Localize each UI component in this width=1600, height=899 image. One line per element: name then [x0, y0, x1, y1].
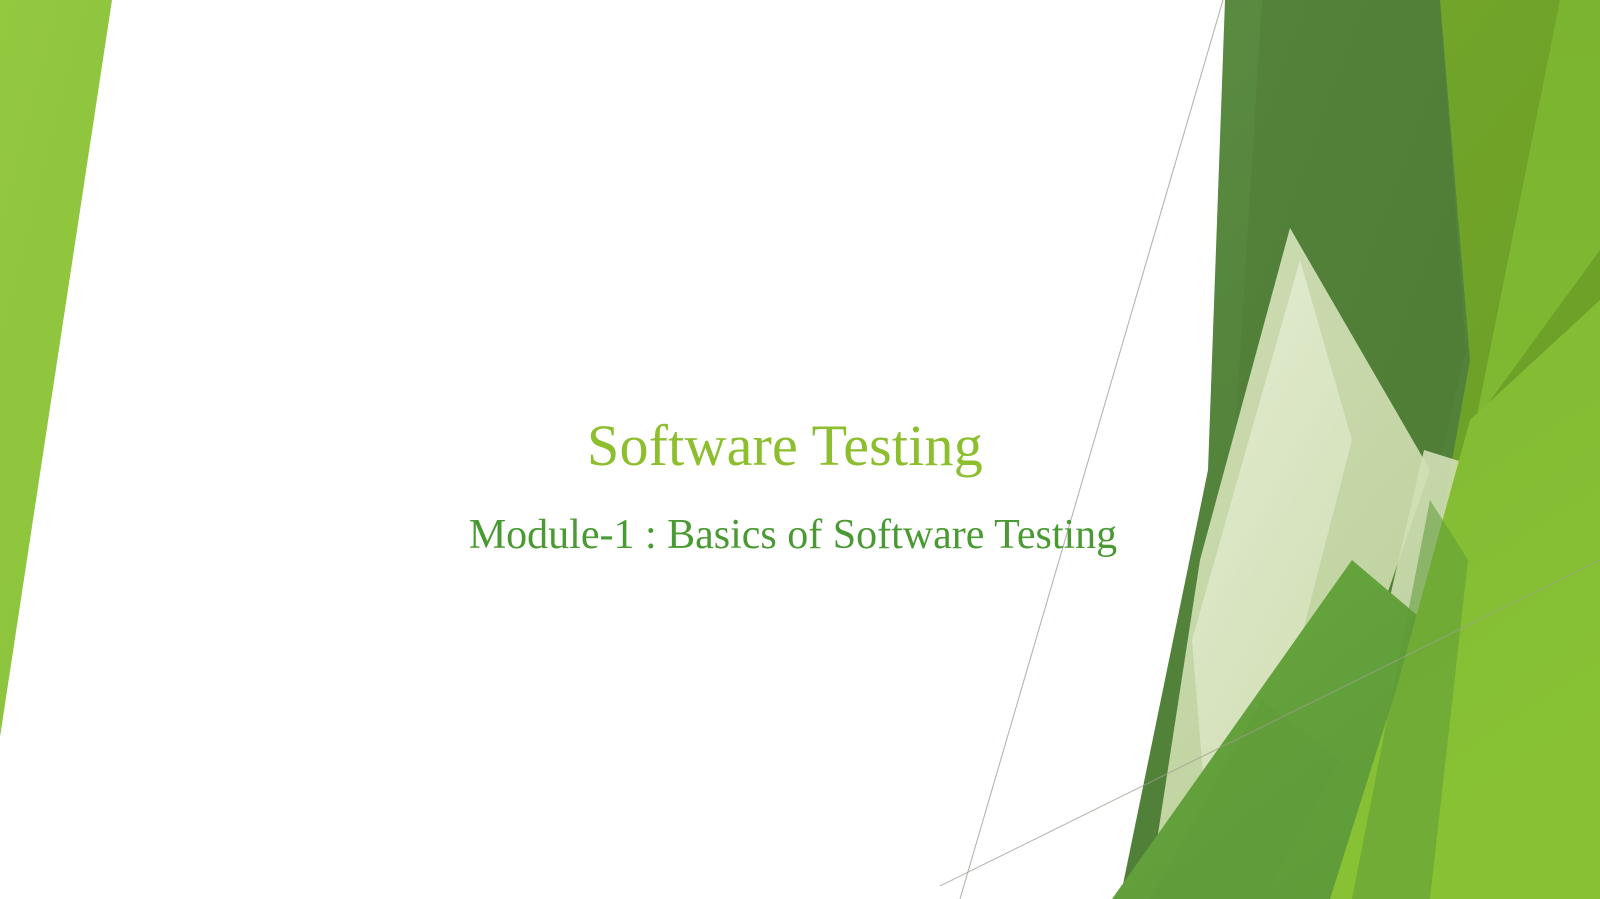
- slide-text-layer: Software Testing Module-1 : Basics of So…: [0, 0, 1600, 899]
- title-placeholder[interactable]: Software Testing: [170, 415, 1400, 478]
- presentation-slide: Software Testing Module-1 : Basics of So…: [0, 0, 1600, 899]
- page-title: Software Testing: [170, 415, 1400, 478]
- page-subtitle: Module-1 : Basics of Software Testing: [170, 512, 1416, 558]
- subtitle-placeholder[interactable]: Module-1 : Basics of Software Testing: [170, 512, 1416, 558]
